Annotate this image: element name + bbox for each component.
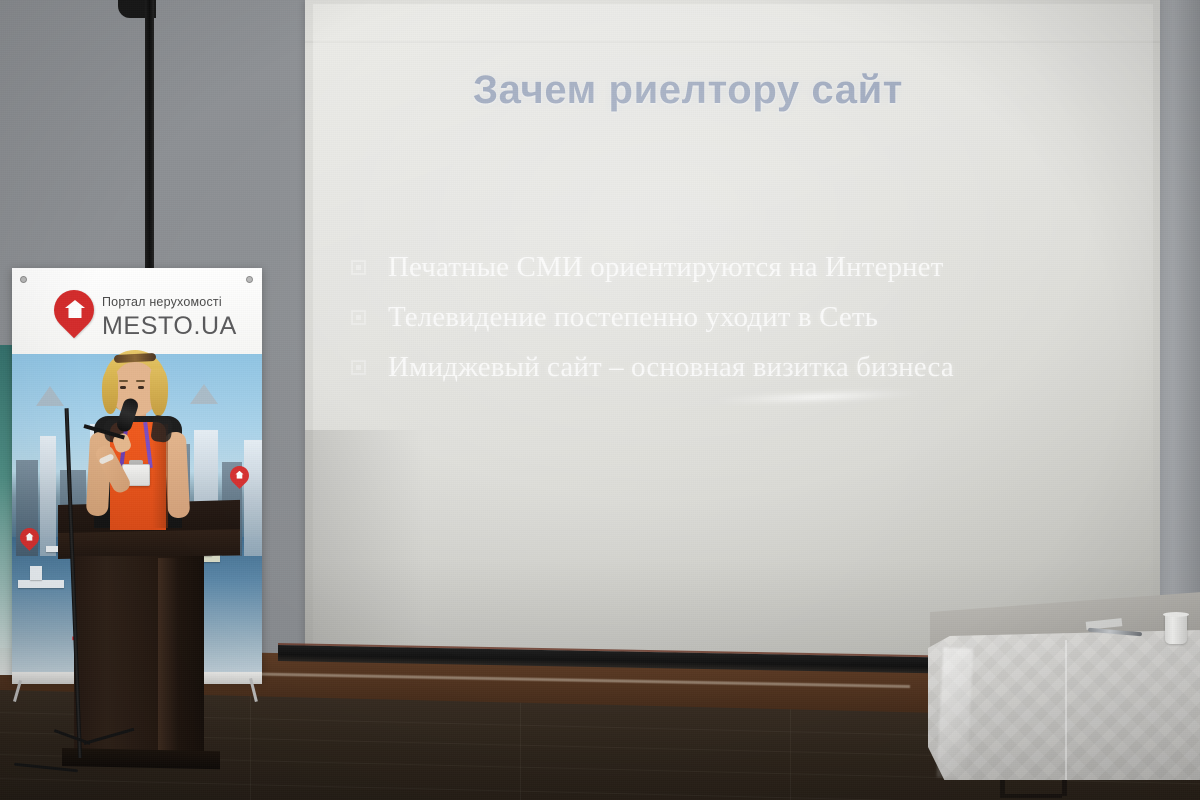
square-outline-bullet-icon <box>351 360 366 375</box>
banner-eyelet <box>246 276 253 283</box>
slide-bullet-item: Имиджевый сайт – основная визитка бизнес… <box>351 342 1141 392</box>
slide-bullet-item: Печатные СМИ ориентируются на Интернет <box>351 242 1141 292</box>
table-cloth-fold <box>1065 640 1067 780</box>
banner-tagline: Портал нерухомості <box>102 295 222 309</box>
speaker-hair-left <box>102 370 118 414</box>
podium-column-edge <box>158 558 178 756</box>
wall-right-panel <box>1155 0 1200 660</box>
slide-bullet-text: Телевидение постепенно уходит в Сеть <box>388 301 878 334</box>
slide-bullet-item: Телевидение постепенно уходит в Сеть <box>351 292 1141 342</box>
conference-room-photo: Зачем риелтору сайт Печатные СМИ ориенти… <box>0 0 1200 800</box>
ceiling-mount-pole <box>145 0 154 278</box>
podium-column <box>74 556 204 756</box>
square-outline-bullet-icon <box>351 310 366 325</box>
house-glyph-icon <box>65 300 85 318</box>
plastic-cup <box>1165 614 1187 644</box>
presentation-slide: Зачем риелтору сайт Печатные СМИ ориенти… <box>313 4 1153 652</box>
podium-base <box>62 748 220 769</box>
speaker-person <box>74 348 210 528</box>
slide-bullet-text: Печатные СМИ ориентируются на Интернет <box>388 251 943 284</box>
slide-bullet-text: Имиджевый сайт – основная визитка бизнес… <box>388 351 954 384</box>
banner-eyelet <box>20 276 27 283</box>
speaker-hair-right <box>150 368 168 416</box>
speaker-eye <box>120 386 126 389</box>
banner-brand-name: MESTO.UA <box>102 312 237 341</box>
table-leg-foot <box>1000 794 1062 798</box>
square-outline-bullet-icon <box>351 260 366 275</box>
slide-title: Зачем риелтору сайт <box>473 68 1093 113</box>
slide-bullet-list: Печатные СМИ ориентируются на Интернет Т… <box>351 242 1141 392</box>
plastic-cup-rim <box>1163 612 1189 617</box>
speaker-eye <box>138 386 144 389</box>
banner-header-area <box>12 268 262 354</box>
podium-front-lip <box>58 529 240 559</box>
